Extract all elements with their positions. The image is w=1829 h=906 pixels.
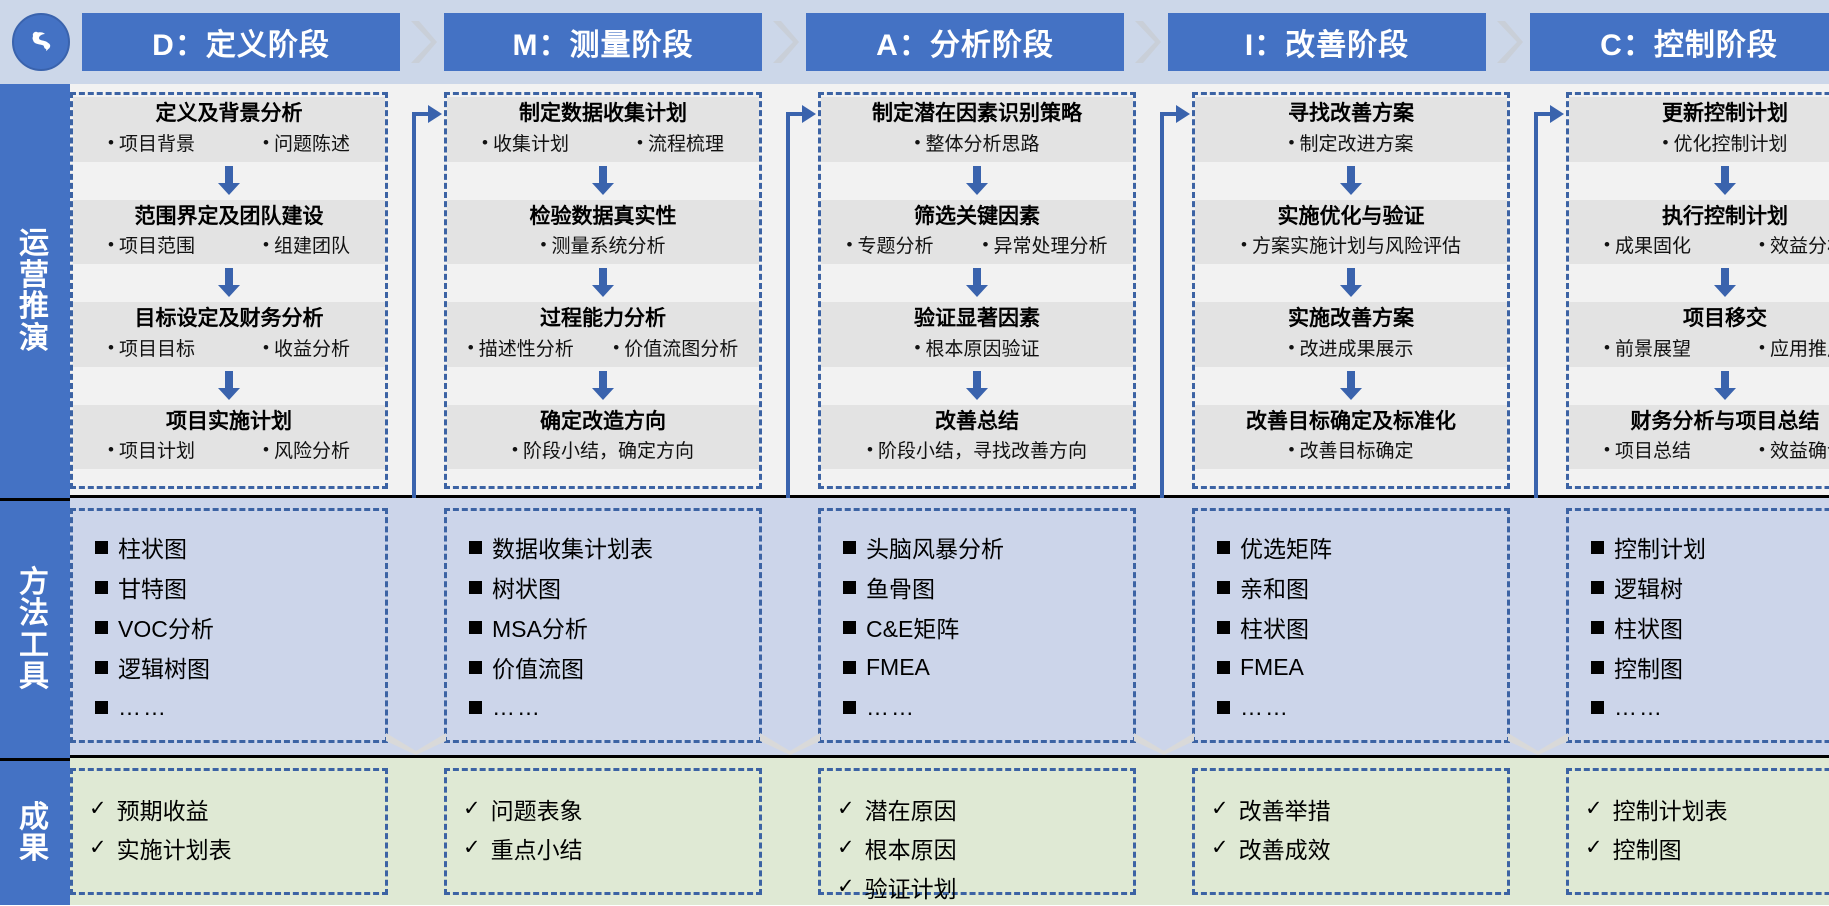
outcomes-column-gap xyxy=(762,758,818,905)
ops-step-card[interactable]: 项目实施计划•项目计划•风险分析 xyxy=(73,405,385,470)
ops-step-sub-item: •项目背景 xyxy=(108,129,195,156)
tools-list: 控制计划逻辑树柱状图控制图…… xyxy=(1569,523,1829,727)
square-bullet-icon xyxy=(1217,661,1230,674)
tool-item-label: 亲和图 xyxy=(1240,570,1309,604)
ops-step-title: 项目实施计划 xyxy=(77,409,381,435)
ops-step-sub-item: •组建团队 xyxy=(263,231,350,258)
ops-step-sub-item: •项目总结 xyxy=(1604,436,1691,463)
bullet-dot-icon: • xyxy=(108,339,114,356)
bullet-dot-icon: • xyxy=(1289,134,1295,151)
phase-header-label: A：分析阶段 xyxy=(876,20,1054,64)
tool-list-item[interactable]: 树状图 xyxy=(469,567,759,607)
ops-step-title: 检验数据真实性 xyxy=(451,204,755,230)
square-bullet-icon xyxy=(469,621,482,634)
tool-item-label: 价值流图 xyxy=(492,650,584,684)
ops-step-sub-item: •前景展望 xyxy=(1604,334,1691,361)
ops-step-sub-item: •改善目标确定 xyxy=(1289,436,1414,463)
outcome-item-label: 潜在原因 xyxy=(865,792,957,826)
square-bullet-icon xyxy=(843,701,856,714)
row-label-tools: 方法工具 xyxy=(0,498,70,758)
ops-step-card[interactable]: 确定改造方向•阶段小结，确定方向 xyxy=(447,405,759,470)
ops-step-card[interactable]: 改善目标确定及标准化•改善目标确定 xyxy=(1195,405,1507,470)
tools-column-d: 柱状图甘特图VOC分析逻辑树图…… xyxy=(70,498,388,755)
arrow-down-icon xyxy=(1195,162,1507,200)
phase-header-m[interactable]: M：测量阶段 xyxy=(444,13,762,71)
ops-step-sub-label: 项目范围 xyxy=(119,231,195,258)
arrow-down-icon xyxy=(73,162,385,200)
ops-step-sub-item: •问题陈述 xyxy=(263,129,350,156)
ops-step-title: 目标设定及财务分析 xyxy=(77,306,381,332)
ops-step-sub-item: •项目目标 xyxy=(108,334,195,361)
bullet-dot-icon: • xyxy=(1759,236,1765,253)
tools-dashed-panel: 优选矩阵亲和图柱状图FMEA…… xyxy=(1192,508,1510,743)
ops-step-card[interactable]: 制定潜在因素识别策略•整体分析思路 xyxy=(821,97,1133,162)
bullet-dot-icon: • xyxy=(541,236,547,253)
tool-item-label: 控制计划 xyxy=(1614,530,1706,564)
chevron-down-transition-icon xyxy=(1134,733,1194,755)
tools-dashed-panel: 头脑风暴分析鱼骨图C&E矩阵FMEA…… xyxy=(818,508,1136,743)
tool-item-label: …… xyxy=(866,694,916,721)
row-outcomes: 成果 ✓预期收益✓实施计划表✓问题表象✓重点小结✓潜在原因✓根本原因✓验证计划✓… xyxy=(0,758,1829,905)
ops-step-sub-item: •收益分析 xyxy=(263,334,350,361)
ops-step-sub-label: 测量系统分析 xyxy=(551,231,665,258)
bullet-dot-icon: • xyxy=(512,441,518,458)
arrow-down-icon xyxy=(821,162,1133,200)
ops-step-sub-item: •项目范围 xyxy=(108,231,195,258)
bullet-dot-icon: • xyxy=(263,339,269,356)
ops-step-sub-item: •整体分析思路 xyxy=(915,129,1040,156)
ops-step-sub-label: 收益分析 xyxy=(274,334,350,361)
tool-list-item[interactable]: C&E矩阵 xyxy=(843,607,1133,647)
row-tools: 方法工具 柱状图甘特图VOC分析逻辑树图……数据收集计划表树状图MSA分析价值流… xyxy=(0,498,1829,758)
tool-item-label: …… xyxy=(1614,694,1664,721)
ops-step-title: 确定改造方向 xyxy=(451,409,755,435)
square-bullet-icon xyxy=(1591,701,1604,714)
ops-step-title: 实施优化与验证 xyxy=(1199,204,1503,230)
tools-list: 优选矩阵亲和图柱状图FMEA…… xyxy=(1195,523,1507,727)
outcome-list-item[interactable]: ✓重点小结 xyxy=(463,828,759,867)
ops-step-card[interactable]: 执行控制计划•成果固化•效益分析 xyxy=(1569,200,1829,265)
bullet-dot-icon: • xyxy=(1759,339,1765,356)
square-bullet-icon xyxy=(469,661,482,674)
ops-step-sub-list: •专题分析•异常处理分析 xyxy=(825,231,1129,258)
ops-step-sub-item: •风险分析 xyxy=(263,436,350,463)
outcome-item-label: 预期收益 xyxy=(117,792,209,826)
tool-list-item[interactable]: 控制图 xyxy=(1591,647,1829,687)
outcome-item-label: 验证计划 xyxy=(865,870,957,904)
bullet-dot-icon: • xyxy=(263,236,269,253)
outcomes-column-gap xyxy=(388,758,444,905)
ops-column-m: 制定数据收集计划•收集计划•流程梳理检验数据真实性•测量系统分析过程能力分析•描… xyxy=(444,84,762,495)
check-mark-icon: ✓ xyxy=(837,796,855,821)
square-bullet-icon xyxy=(843,581,856,594)
outcome-list-item[interactable]: ✓潜在原因 xyxy=(837,789,1133,828)
tool-list-item[interactable]: 柱状图 xyxy=(1217,607,1507,647)
square-bullet-icon xyxy=(95,661,108,674)
logo-container xyxy=(0,0,82,84)
ops-step-sub-item: •价值流图分析 xyxy=(613,334,738,361)
tool-list-item[interactable]: …… xyxy=(843,687,1133,727)
bullet-dot-icon: • xyxy=(468,339,474,356)
tool-list-item[interactable]: 柱状图 xyxy=(95,527,385,567)
phase-header-label: M：测量阶段 xyxy=(513,20,694,64)
phase-connector-arrow-icon xyxy=(388,84,444,498)
row-label-tools-text: 方法工具 xyxy=(17,567,53,693)
ops-step-sub-list: •测量系统分析 xyxy=(451,231,755,258)
ops-step-title: 改善目标确定及标准化 xyxy=(1199,409,1503,435)
ops-step-sub-label: 改善目标确定 xyxy=(1299,436,1413,463)
arrow-down-icon xyxy=(821,264,1133,302)
phase-header-c[interactable]: C：控制阶段 xyxy=(1530,13,1829,71)
arrow-down-icon xyxy=(1569,367,1829,405)
bullet-dot-icon: • xyxy=(1241,236,1247,253)
outcomes-list: ✓控制计划表✓控制图 xyxy=(1569,781,1829,867)
ops-step-card[interactable]: 验证显著因素•根本原因验证 xyxy=(821,302,1133,367)
tools-column-i: 优选矩阵亲和图柱状图FMEA…… xyxy=(1192,498,1510,755)
ops-step-card[interactable]: 制定数据收集计划•收集计划•流程梳理 xyxy=(447,97,759,162)
outcomes-column-d: ✓预期收益✓实施计划表 xyxy=(70,758,388,905)
bullet-dot-icon: • xyxy=(263,134,269,151)
chevron-right-icon xyxy=(1124,13,1168,71)
ops-step-sub-item: •阶段小结，确定方向 xyxy=(512,436,694,463)
outcome-list-item[interactable]: ✓控制图 xyxy=(1585,828,1829,867)
ops-step-sub-list: •改善目标确定 xyxy=(1199,436,1503,463)
ops-step-card[interactable]: 更新控制计划•优化控制计划 xyxy=(1569,97,1829,162)
square-bullet-icon xyxy=(1591,661,1604,674)
outcomes-column-a: ✓潜在原因✓根本原因✓验证计划 xyxy=(818,758,1136,905)
bullet-dot-icon: • xyxy=(1759,441,1765,458)
outcomes-dashed-panel: ✓潜在原因✓根本原因✓验证计划 xyxy=(818,768,1136,895)
square-bullet-icon xyxy=(95,701,108,714)
bullet-dot-icon: • xyxy=(1604,441,1610,458)
ops-step-sub-label: 应用推广 xyxy=(1770,334,1829,361)
outcome-list-item[interactable]: ✓根本原因 xyxy=(837,828,1133,867)
ops-step-sub-label: 项目目标 xyxy=(119,334,195,361)
ops-step-card[interactable]: 项目移交•前景展望•应用推广 xyxy=(1569,302,1829,367)
ops-step-sub-label: 描述性分析 xyxy=(479,334,574,361)
check-mark-icon: ✓ xyxy=(837,874,855,899)
tool-list-item[interactable]: 甘特图 xyxy=(95,567,385,607)
tool-list-item[interactable]: 柱状图 xyxy=(1591,607,1829,647)
tool-list-item[interactable]: …… xyxy=(469,687,759,727)
header-bar: D：定义阶段M：测量阶段A：分析阶段I：改善阶段C：控制阶段 xyxy=(0,0,1829,84)
bullet-dot-icon: • xyxy=(637,134,643,151)
phase-header-i[interactable]: I：改善阶段 xyxy=(1168,13,1486,71)
outcomes-dashed-panel: ✓改善举措✓改善成效 xyxy=(1192,768,1510,895)
tool-list-item[interactable]: 头脑风暴分析 xyxy=(843,527,1133,567)
ops-step-title: 项目移交 xyxy=(1573,306,1829,332)
ops-dashed-panel: 更新控制计划•优化控制计划执行控制计划•成果固化•效益分析项目移交•前景展望•应… xyxy=(1566,92,1829,489)
ops-step-sub-list: •项目背景•问题陈述 xyxy=(77,129,381,156)
bullet-dot-icon: • xyxy=(613,339,619,356)
tools-column-gap xyxy=(388,498,444,755)
phase-header-a[interactable]: A：分析阶段 xyxy=(806,13,1124,71)
tools-list: 柱状图甘特图VOC分析逻辑树图…… xyxy=(73,523,385,727)
ops-step-title: 验证显著因素 xyxy=(825,306,1129,332)
ops-step-sub-item: •优化控制计划 xyxy=(1663,129,1788,156)
tool-item-label: 逻辑树图 xyxy=(118,650,210,684)
outcome-list-item[interactable]: ✓改善成效 xyxy=(1211,828,1507,867)
ops-dashed-panel: 定义及背景分析•项目背景•问题陈述范围界定及团队建设•项目范围•组建团队目标设定… xyxy=(70,92,388,489)
tool-item-label: FMEA xyxy=(866,654,930,681)
ops-step-sub-item: •异常处理分析 xyxy=(983,231,1108,258)
arrow-down-icon xyxy=(821,367,1133,405)
chevron-right-icon xyxy=(762,13,806,71)
arrow-down-icon xyxy=(447,264,759,302)
ops-step-sub-label: 优化控制计划 xyxy=(1673,129,1787,156)
tools-content: 柱状图甘特图VOC分析逻辑树图……数据收集计划表树状图MSA分析价值流图……头脑… xyxy=(70,498,1829,758)
outcome-list-item[interactable]: ✓控制计划表 xyxy=(1585,789,1829,828)
row-operations: 运营推演 定义及背景分析•项目背景•问题陈述范围界定及团队建设•项目范围•组建团… xyxy=(0,84,1829,498)
tool-item-label: 控制图 xyxy=(1614,650,1683,684)
square-bullet-icon xyxy=(1217,581,1230,594)
bullet-dot-icon: • xyxy=(1604,339,1610,356)
tools-dashed-panel: 控制计划逻辑树柱状图控制图…… xyxy=(1566,508,1829,743)
ops-step-sub-label: 项目背景 xyxy=(119,129,195,156)
bullet-dot-icon: • xyxy=(867,441,873,458)
outcome-list-item[interactable]: ✓实施计划表 xyxy=(89,828,385,867)
chevron-down-transition-icon xyxy=(760,733,820,755)
ops-step-sub-label: 制定改进方案 xyxy=(1299,129,1413,156)
ops-step-sub-list: •制定改进方案 xyxy=(1199,129,1503,156)
outcome-item-label: 控制图 xyxy=(1613,831,1682,865)
bullet-dot-icon: • xyxy=(108,441,114,458)
ops-step-card[interactable]: 检验数据真实性•测量系统分析 xyxy=(447,200,759,265)
ops-step-sub-item: •方案实施计划与风险评估 xyxy=(1241,231,1461,258)
square-bullet-icon xyxy=(843,541,856,554)
ops-step-sub-label: 项目总结 xyxy=(1615,436,1691,463)
bullet-dot-icon: • xyxy=(108,134,114,151)
ops-step-sub-label: 改进成果展示 xyxy=(1299,334,1413,361)
arrow-down-icon xyxy=(447,367,759,405)
ops-step-title: 实施改善方案 xyxy=(1199,306,1503,332)
ops-step-sub-item: •制定改进方案 xyxy=(1289,129,1414,156)
outcomes-list: ✓潜在原因✓根本原因✓验证计划 xyxy=(821,781,1133,906)
ops-step-sub-label: 风险分析 xyxy=(274,436,350,463)
ops-step-sub-list: •阶段小结，确定方向 xyxy=(451,436,755,463)
check-mark-icon: ✓ xyxy=(1585,835,1603,860)
ops-step-title: 筛选关键因素 xyxy=(825,204,1129,230)
tool-list-item[interactable]: 数据收集计划表 xyxy=(469,527,759,567)
ops-step-title: 寻找改善方案 xyxy=(1199,101,1503,127)
ops-step-sub-label: 效益分析 xyxy=(1770,231,1829,258)
ops-step-sub-list: •整体分析思路 xyxy=(825,129,1129,156)
arrow-down-icon xyxy=(1195,367,1507,405)
ops-column-i: 寻找改善方案•制定改进方案实施优化与验证•方案实施计划与风险评估实施改善方案•改… xyxy=(1192,84,1510,495)
tool-list-item[interactable]: …… xyxy=(1591,687,1829,727)
ops-step-sub-item: •项目计划 xyxy=(108,436,195,463)
ops-step-card[interactable]: 改善总结•阶段小结，寻找改善方向 xyxy=(821,405,1133,470)
tools-column-a: 头脑风暴分析鱼骨图C&E矩阵FMEA…… xyxy=(818,498,1136,755)
ops-step-card[interactable]: 筛选关键因素•专题分析•异常处理分析 xyxy=(821,200,1133,265)
tool-item-label: …… xyxy=(492,694,542,721)
outcome-list-item[interactable]: ✓验证计划 xyxy=(837,867,1133,906)
phase-connector-arrow-icon xyxy=(762,84,818,498)
ops-step-sub-item: •收集计划 xyxy=(482,129,569,156)
ops-step-sub-label: 流程梳理 xyxy=(648,129,724,156)
phase-header-label: I：改善阶段 xyxy=(1245,20,1409,64)
chevron-right-icon xyxy=(1486,13,1530,71)
arrow-down-icon xyxy=(73,264,385,302)
ops-step-card[interactable]: 财务分析与项目总结•项目总结•效益确认 xyxy=(1569,405,1829,470)
ops-step-card[interactable]: 目标设定及财务分析•项目目标•收益分析 xyxy=(73,302,385,367)
tool-item-label: FMEA xyxy=(1240,654,1304,681)
ops-step-title: 改善总结 xyxy=(825,409,1129,435)
ops-step-sub-label: 组建团队 xyxy=(274,231,350,258)
tools-column-gap xyxy=(1510,498,1566,755)
outcomes-column-c: ✓控制计划表✓控制图 xyxy=(1566,758,1829,905)
tool-list-item[interactable]: FMEA xyxy=(843,647,1133,687)
square-bullet-icon xyxy=(843,661,856,674)
ops-step-card[interactable]: 定义及背景分析•项目背景•问题陈述 xyxy=(73,97,385,162)
outcomes-column-i: ✓改善举措✓改善成效 xyxy=(1192,758,1510,905)
tool-list-item[interactable]: FMEA xyxy=(1217,647,1507,687)
ops-step-sub-list: •项目总结•效益确认 xyxy=(1573,436,1829,463)
tools-dashed-panel: 柱状图甘特图VOC分析逻辑树图…… xyxy=(70,508,388,743)
ops-step-sub-label: 异常处理分析 xyxy=(993,231,1107,258)
ops-step-sub-item: •根本原因验证 xyxy=(915,334,1040,361)
bullet-dot-icon: • xyxy=(1604,236,1610,253)
ops-step-sub-item: •流程梳理 xyxy=(637,129,724,156)
ops-step-card[interactable]: 范围界定及团队建设•项目范围•组建团队 xyxy=(73,200,385,265)
check-mark-icon: ✓ xyxy=(1211,796,1229,821)
body-area: 运营推演 定义及背景分析•项目背景•问题陈述范围界定及团队建设•项目范围•组建团… xyxy=(0,84,1829,905)
outcomes-list: ✓预期收益✓实施计划表 xyxy=(73,781,385,867)
tools-list: 头脑风暴分析鱼骨图C&E矩阵FMEA…… xyxy=(821,523,1133,727)
outcomes-list: ✓改善举措✓改善成效 xyxy=(1195,781,1507,867)
ops-step-sub-item: •成果固化 xyxy=(1604,231,1691,258)
tool-list-item[interactable]: …… xyxy=(1217,687,1507,727)
ops-step-card[interactable]: 实施优化与验证•方案实施计划与风险评估 xyxy=(1195,200,1507,265)
row-label-operations: 运营推演 xyxy=(0,84,70,498)
check-mark-icon: ✓ xyxy=(89,835,107,860)
ops-step-card[interactable]: 过程能力分析•描述性分析•价值流图分析 xyxy=(447,302,759,367)
ops-column-gap xyxy=(762,84,818,495)
row-label-operations-text: 运营推演 xyxy=(17,228,53,354)
check-mark-icon: ✓ xyxy=(463,796,481,821)
bullet-dot-icon: • xyxy=(108,236,114,253)
ops-step-sub-item: •阶段小结，寻找改善方向 xyxy=(867,436,1087,463)
outcome-list-item[interactable]: ✓预期收益 xyxy=(89,789,385,828)
ops-column-c: 更新控制计划•优化控制计划执行控制计划•成果固化•效益分析项目移交•前景展望•应… xyxy=(1566,84,1829,495)
outcome-item-label: 根本原因 xyxy=(865,831,957,865)
outcome-item-label: 控制计划表 xyxy=(1613,792,1728,826)
ops-step-title: 制定数据收集计划 xyxy=(451,101,755,127)
ops-dashed-panel: 寻找改善方案•制定改进方案实施优化与验证•方案实施计划与风险评估实施改善方案•改… xyxy=(1192,92,1510,489)
ops-step-title: 更新控制计划 xyxy=(1573,101,1829,127)
square-bullet-icon xyxy=(95,541,108,554)
tool-item-label: …… xyxy=(118,694,168,721)
square-bullet-icon xyxy=(469,581,482,594)
tool-item-label: …… xyxy=(1240,694,1290,721)
square-bullet-icon xyxy=(95,621,108,634)
tool-list-item[interactable]: …… xyxy=(95,687,385,727)
square-bullet-icon xyxy=(469,701,482,714)
ops-column-d: 定义及背景分析•项目背景•问题陈述范围界定及团队建设•项目范围•组建团队目标设定… xyxy=(70,84,388,495)
ops-step-sub-list: •根本原因验证 xyxy=(825,334,1129,361)
tool-list-item[interactable]: 逻辑树图 xyxy=(95,647,385,687)
ops-step-card[interactable]: 实施改善方案•改进成果展示 xyxy=(1195,302,1507,367)
ops-step-sub-list: •方案实施计划与风险评估 xyxy=(1199,231,1503,258)
ops-dashed-panel: 制定潜在因素识别策略•整体分析思路筛选关键因素•专题分析•异常处理分析验证显著因… xyxy=(818,92,1136,489)
arrow-down-icon xyxy=(1195,264,1507,302)
outcome-item-label: 问题表象 xyxy=(491,792,583,826)
ops-step-sub-list: •收集计划•流程梳理 xyxy=(451,129,755,156)
phase-header-label: D：定义阶段 xyxy=(152,20,330,64)
ops-step-title: 制定潜在因素识别策略 xyxy=(825,101,1129,127)
ops-step-sub-item: •描述性分析 xyxy=(468,334,574,361)
tools-column-gap xyxy=(1136,498,1192,755)
row-label-outcomes-text: 成果 xyxy=(17,802,53,865)
ops-step-title: 范围界定及团队建设 xyxy=(77,204,381,230)
ops-step-sub-label: 阶段小结，确定方向 xyxy=(523,436,694,463)
bullet-dot-icon: • xyxy=(482,134,488,151)
outcomes-list: ✓问题表象✓重点小结 xyxy=(447,781,759,867)
square-bullet-icon xyxy=(1217,621,1230,634)
tool-list-item[interactable]: MSA分析 xyxy=(469,607,759,647)
tool-item-label: 优选矩阵 xyxy=(1240,530,1332,564)
phase-header-d[interactable]: D：定义阶段 xyxy=(82,13,400,71)
ops-step-sub-list: •改进成果展示 xyxy=(1199,334,1503,361)
tool-list-item[interactable]: 价值流图 xyxy=(469,647,759,687)
tool-list-item[interactable]: 控制计划 xyxy=(1591,527,1829,567)
tool-list-item[interactable]: 亲和图 xyxy=(1217,567,1507,607)
ops-step-sub-item: •应用推广 xyxy=(1759,334,1829,361)
tool-item-label: 甘特图 xyxy=(118,570,187,604)
ops-step-title: 过程能力分析 xyxy=(451,306,755,332)
ops-step-sub-list: •描述性分析•价值流图分析 xyxy=(451,334,755,361)
bullet-dot-icon: • xyxy=(1289,339,1295,356)
check-mark-icon: ✓ xyxy=(1211,835,1229,860)
ops-step-sub-label: 阶段小结，寻找改善方向 xyxy=(878,436,1087,463)
phase-connector-arrow-icon xyxy=(1510,84,1566,498)
ops-step-card[interactable]: 寻找改善方案•制定改进方案 xyxy=(1195,97,1507,162)
outcome-list-item[interactable]: ✓问题表象 xyxy=(463,789,759,828)
ops-step-sub-list: •成果固化•效益分析 xyxy=(1573,231,1829,258)
ops-dashed-panel: 制定数据收集计划•收集计划•流程梳理检验数据真实性•测量系统分析过程能力分析•描… xyxy=(444,92,762,489)
ops-step-sub-label: 问题陈述 xyxy=(274,129,350,156)
tool-list-item[interactable]: 逻辑树 xyxy=(1591,567,1829,607)
outcomes-column-gap xyxy=(1136,758,1192,905)
outcome-item-label: 实施计划表 xyxy=(117,831,232,865)
square-bullet-icon xyxy=(1217,541,1230,554)
square-bullet-icon xyxy=(1591,621,1604,634)
ops-step-title: 财务分析与项目总结 xyxy=(1573,409,1829,435)
ops-step-sub-label: 专题分析 xyxy=(857,231,933,258)
square-bullet-icon xyxy=(1217,701,1230,714)
outcome-item-label: 重点小结 xyxy=(491,831,583,865)
ops-step-sub-label: 价值流图分析 xyxy=(624,334,738,361)
outcome-item-label: 改善成效 xyxy=(1239,831,1331,865)
tool-item-label: 树状图 xyxy=(492,570,561,604)
ops-step-sub-list: •项目计划•风险分析 xyxy=(77,436,381,463)
ops-step-sub-list: •前景展望•应用推广 xyxy=(1573,334,1829,361)
bullet-dot-icon: • xyxy=(1663,134,1669,151)
ops-column-gap xyxy=(1136,84,1192,495)
tool-item-label: 数据收集计划表 xyxy=(492,530,653,564)
tool-item-label: 头脑风暴分析 xyxy=(866,530,1004,564)
square-bullet-icon xyxy=(469,541,482,554)
outcome-list-item[interactable]: ✓改善举措 xyxy=(1211,789,1507,828)
ops-step-sub-list: •阶段小结，寻找改善方向 xyxy=(825,436,1129,463)
outcomes-dashed-panel: ✓控制计划表✓控制图 xyxy=(1566,768,1829,895)
check-mark-icon: ✓ xyxy=(89,796,107,821)
tool-list-item[interactable]: 优选矩阵 xyxy=(1217,527,1507,567)
tool-list-item[interactable]: VOC分析 xyxy=(95,607,385,647)
tool-list-item[interactable]: 鱼骨图 xyxy=(843,567,1133,607)
ops-step-title: 定义及背景分析 xyxy=(77,101,381,127)
outcomes-dashed-panel: ✓问题表象✓重点小结 xyxy=(444,768,762,895)
